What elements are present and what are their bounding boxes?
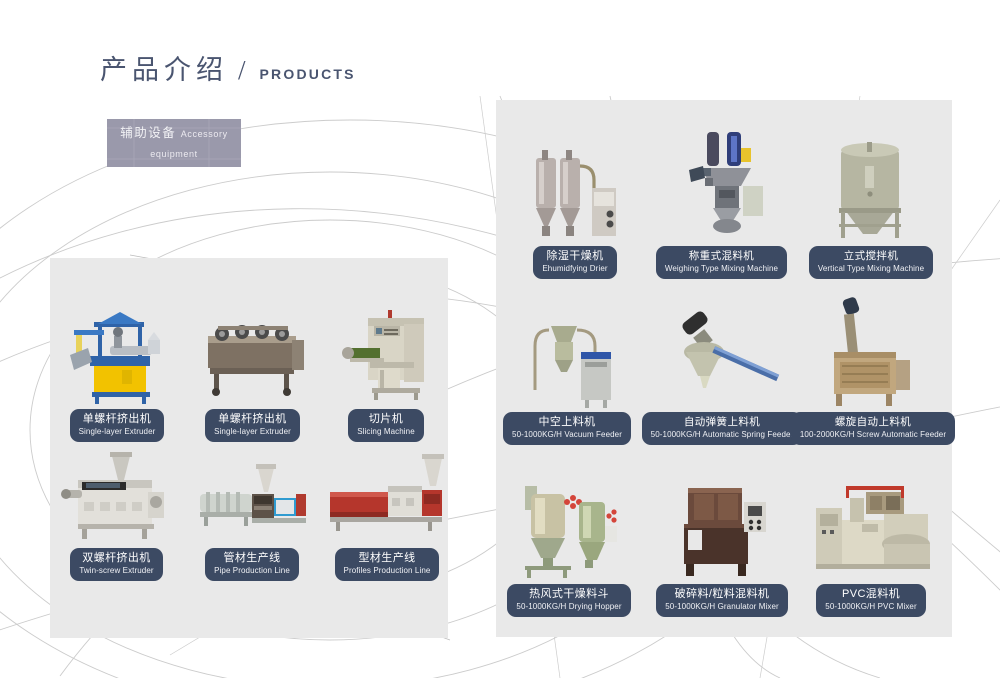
machine-illustration-dehumidifying-drier (520, 132, 630, 242)
machine-illustration-pvc-mixer (806, 472, 936, 580)
page-title-en: PRODUCTS (260, 66, 356, 82)
product-name-en: Weighing Type Mixing Machine (665, 264, 778, 274)
product-card-pipe-production-line[interactable]: 管材生产线 Pipe Production Line (196, 446, 308, 581)
product-name-cn: 立式搅拌机 (818, 250, 924, 263)
product-name-en: Pipe Production Line (214, 566, 290, 576)
page-title-slash: / (238, 55, 246, 86)
product-card-pvc-mixer[interactable]: PVC混料机 50-1000KG/H PVC Mixer (806, 472, 936, 617)
machine-illustration-pipe-production-line (196, 446, 308, 544)
machine-illustration-drying-hopper (505, 472, 633, 580)
product-name-cn: 自动弹簧上料机 (651, 416, 794, 429)
product-name-en: Profiles Production Line (344, 566, 431, 576)
product-name-cn: 中空上料机 (512, 416, 622, 429)
product-label[interactable]: 管材生产线 Pipe Production Line (205, 548, 299, 581)
product-name-en: 100-2000KG/H Screw Automatic Feeder (800, 430, 946, 440)
product-label[interactable]: 切片机 Slicing Machine (348, 409, 424, 442)
product-name-cn: 螺旋自动上料机 (800, 416, 946, 429)
product-name-en: 50-1000KG/H Drying Hopper (516, 602, 621, 612)
product-name-cn: 除湿干燥机 (542, 250, 607, 263)
product-name-en: Slicing Machine (357, 427, 415, 437)
product-card-granulator-mixer[interactable]: 破碎料/粒料混料机 50-1000KG/H Granulator Mixer (658, 472, 786, 617)
category-badge-title-cn: 辅助设备 (120, 126, 176, 140)
product-name-cn: 热风式干燥料斗 (516, 588, 621, 601)
product-card-slicing-machine[interactable]: 切片机 Slicing Machine (330, 300, 442, 442)
product-name-en: 50-1000KG/H PVC Mixer (825, 602, 916, 612)
machine-illustration-single-layer-extruder-1 (62, 300, 172, 405)
product-name-en: Vertical Type Mixing Machine (818, 264, 924, 274)
product-name-en: 50-1000KG/H Vacuum Feeder (512, 430, 622, 440)
product-label[interactable]: 称重式混料机 Weighing Type Mixing Machine (656, 246, 787, 279)
product-label[interactable]: 螺旋自动上料机 100-2000KG/H Screw Automatic Fee… (791, 412, 955, 445)
product-label[interactable]: 自动弹簧上料机 50-1000KG/H Automatic Spring Fee… (642, 412, 803, 445)
machine-illustration-vacuum-feeder (505, 300, 629, 408)
machine-illustration-vertical-type-mixing-machine (803, 124, 939, 242)
product-card-automatic-spring-feeder[interactable]: 自动弹簧上料机 50-1000KG/H Automatic Spring Fee… (652, 296, 792, 445)
machine-illustration-screw-automatic-feeder (800, 290, 946, 408)
product-card-twin-screw-extruder[interactable]: 双螺杆挤出机 Twin-screw Extruder (60, 446, 173, 581)
product-name-en: 50-1000KG/H Automatic Spring Feeder (651, 430, 794, 440)
machine-illustration-weighing-type-mixing-machine (655, 124, 788, 242)
product-name-cn: PVC混料机 (825, 588, 916, 601)
product-card-profiles-production-line[interactable]: 型材生产线 Profiles Production Line (328, 446, 446, 581)
product-label[interactable]: 型材生产线 Profiles Production Line (335, 548, 440, 581)
product-label[interactable]: 双螺杆挤出机 Twin-screw Extruder (70, 548, 162, 581)
product-name-cn: 单螺杆挤出机 (214, 413, 291, 426)
product-label[interactable]: 立式搅拌机 Vertical Type Mixing Machine (809, 246, 933, 279)
product-card-screw-automatic-feeder[interactable]: 螺旋自动上料机 100-2000KG/H Screw Automatic Fee… (800, 290, 946, 445)
machine-illustration-slicing-machine (330, 300, 442, 405)
product-name-cn: 型材生产线 (344, 552, 431, 565)
product-card-dehumidifying-drier[interactable]: 除湿干燥机 Ehumidfying Drier (520, 132, 630, 279)
machine-illustration-automatic-spring-feeder (652, 296, 792, 408)
product-card-weighing-type-mixing-machine[interactable]: 称重式混料机 Weighing Type Mixing Machine (655, 124, 788, 279)
machine-illustration-twin-screw-extruder (60, 446, 173, 544)
page-title-cn: 产品介绍 (100, 48, 228, 87)
product-label[interactable]: 中空上料机 50-1000KG/H Vacuum Feeder (503, 412, 631, 445)
product-name-cn: 称重式混料机 (665, 250, 778, 263)
product-name-en: Twin-screw Extruder (79, 566, 153, 576)
product-name-cn: 破碎料/粒料混料机 (665, 588, 779, 601)
page-title: 产品介绍/ PRODUCTS (100, 48, 356, 87)
machine-illustration-granulator-mixer (658, 472, 786, 580)
machine-illustration-profiles-production-line (328, 446, 446, 544)
product-card-vertical-type-mixing-machine[interactable]: 立式搅拌机 Vertical Type Mixing Machine (803, 124, 939, 279)
product-name-en: Single-layer Extruder (214, 427, 291, 437)
product-label[interactable]: 单螺杆挤出机 Single-layer Extruder (70, 409, 165, 442)
product-card-single-layer-extruder-1[interactable]: 单螺杆挤出机 Single-layer Extruder (62, 300, 172, 442)
product-card-vacuum-feeder[interactable]: 中空上料机 50-1000KG/H Vacuum Feeder (505, 300, 629, 445)
product-label[interactable]: PVC混料机 50-1000KG/H PVC Mixer (816, 584, 925, 617)
product-name-en: Single-layer Extruder (79, 427, 156, 437)
product-label[interactable]: 单螺杆挤出机 Single-layer Extruder (205, 409, 300, 442)
product-name-cn: 切片机 (357, 413, 415, 426)
product-name-cn: 管材生产线 (214, 552, 290, 565)
machine-illustration-single-layer-extruder-2 (196, 300, 309, 405)
product-label[interactable]: 除湿干燥机 Ehumidfying Drier (533, 246, 616, 279)
product-card-single-layer-extruder-2[interactable]: 单螺杆挤出机 Single-layer Extruder (196, 300, 309, 442)
product-label[interactable]: 破碎料/粒料混料机 50-1000KG/H Granulator Mixer (656, 584, 788, 617)
product-name-cn: 单螺杆挤出机 (79, 413, 156, 426)
product-name-en: 50-1000KG/H Granulator Mixer (665, 602, 779, 612)
category-badge-accessory-equipment[interactable]: 辅助设备 Accessory equipment (107, 119, 241, 167)
product-name-cn: 双螺杆挤出机 (79, 552, 153, 565)
product-name-en: Ehumidfying Drier (542, 264, 607, 274)
product-catalog-page: 产品介绍/ PRODUCTS 辅助设备 Accessory equipment (0, 0, 1000, 678)
product-label[interactable]: 热风式干燥料斗 50-1000KG/H Drying Hopper (507, 584, 630, 617)
product-card-drying-hopper[interactable]: 热风式干燥料斗 50-1000KG/H Drying Hopper (505, 472, 633, 617)
